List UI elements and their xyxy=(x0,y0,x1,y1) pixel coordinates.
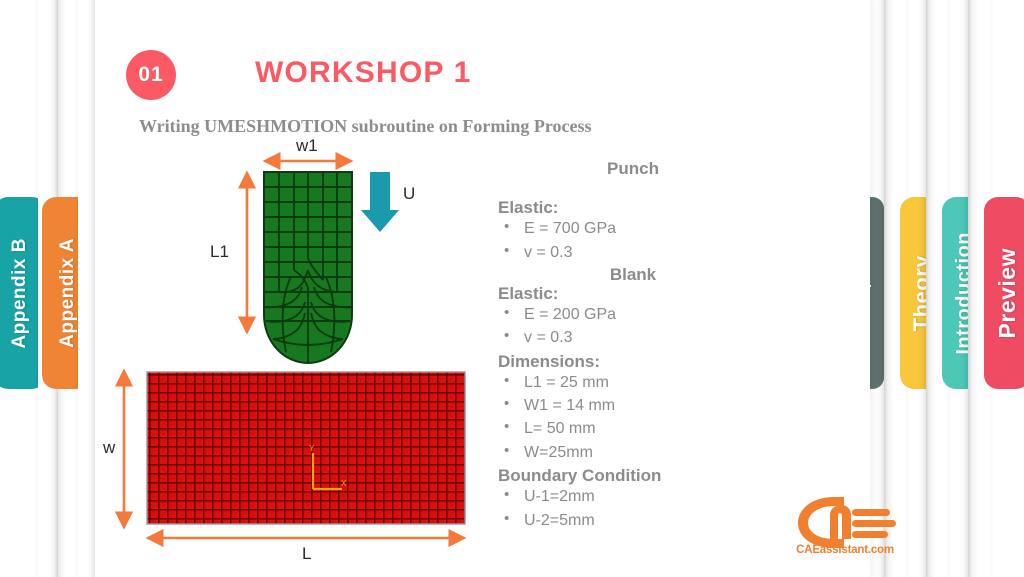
list-item: U-1=2mm xyxy=(498,485,768,508)
punch-heading: Punch xyxy=(498,160,768,178)
boundary-condition-list: U-1=2mm U-2=5mm xyxy=(498,485,768,531)
section-number-badge: 01 xyxy=(126,50,176,100)
list-item: W=25mm xyxy=(498,441,768,464)
punch-elastic-list: E = 700 GPa v = 0.3 xyxy=(498,217,768,263)
list-item: L= 50 mm xyxy=(498,417,768,440)
caeassistant-logo-text: CAEassistant.com xyxy=(786,544,904,556)
slide-canvas: Appendix B Appendix A xyxy=(0,0,1024,577)
page-subtitle: Writing UMESHMOTION subroutine on Formin… xyxy=(139,116,592,137)
dimension-label-u: U xyxy=(403,184,415,204)
sidebar-tab-preview-label: Preview xyxy=(994,248,1021,338)
fe-model-diagram: Y X w1 L1 U w L xyxy=(95,140,515,565)
punch-part xyxy=(264,172,352,363)
dimension-label-w1: w1 xyxy=(296,136,318,156)
list-item: U-2=5mm xyxy=(498,509,768,532)
dimensions-list: L1 = 25 mm W1 = 14 mm L= 50 mm W=25mm xyxy=(498,371,768,464)
blank-heading: Blank xyxy=(498,266,768,284)
dimension-label-l1: L1 xyxy=(210,242,229,262)
list-item: E = 200 GPa xyxy=(498,303,768,326)
list-item: v = 0.3 xyxy=(498,241,768,264)
blank-part xyxy=(147,372,465,524)
sidebar-tab-appendix-a-label: Appendix A xyxy=(57,238,79,348)
list-item: v = 0.3 xyxy=(498,326,768,349)
blank-elastic-heading: Elastic: xyxy=(498,284,768,304)
axis-x-label: X xyxy=(341,479,347,488)
fe-model-svg: Y X xyxy=(95,140,515,565)
list-item: W1 = 14 mm xyxy=(498,394,768,417)
axis-y-label: Y xyxy=(309,444,315,453)
page-title: WORKSHOP 1 xyxy=(255,56,471,90)
boundary-condition-heading: Boundary Condition xyxy=(498,466,768,486)
dimension-label-l: L xyxy=(302,544,311,564)
displacement-arrow-u xyxy=(361,172,399,232)
dimensions-heading: Dimensions: xyxy=(498,352,768,372)
sidebar-tab-preview[interactable]: Preview xyxy=(984,197,1024,389)
blank-elastic-list: E = 200 GPa v = 0.3 xyxy=(498,303,768,349)
sidebar-tab-appendix-b-label: Appendix B xyxy=(9,238,31,349)
punch-elastic-heading: Elastic: xyxy=(498,198,768,218)
list-item: E = 700 GPa xyxy=(498,217,768,240)
specs-panel: Punch Elastic: E = 700 GPa v = 0.3 Blank… xyxy=(498,160,768,532)
list-item: L1 = 25 mm xyxy=(498,371,768,394)
dimension-label-w: w xyxy=(103,438,115,458)
